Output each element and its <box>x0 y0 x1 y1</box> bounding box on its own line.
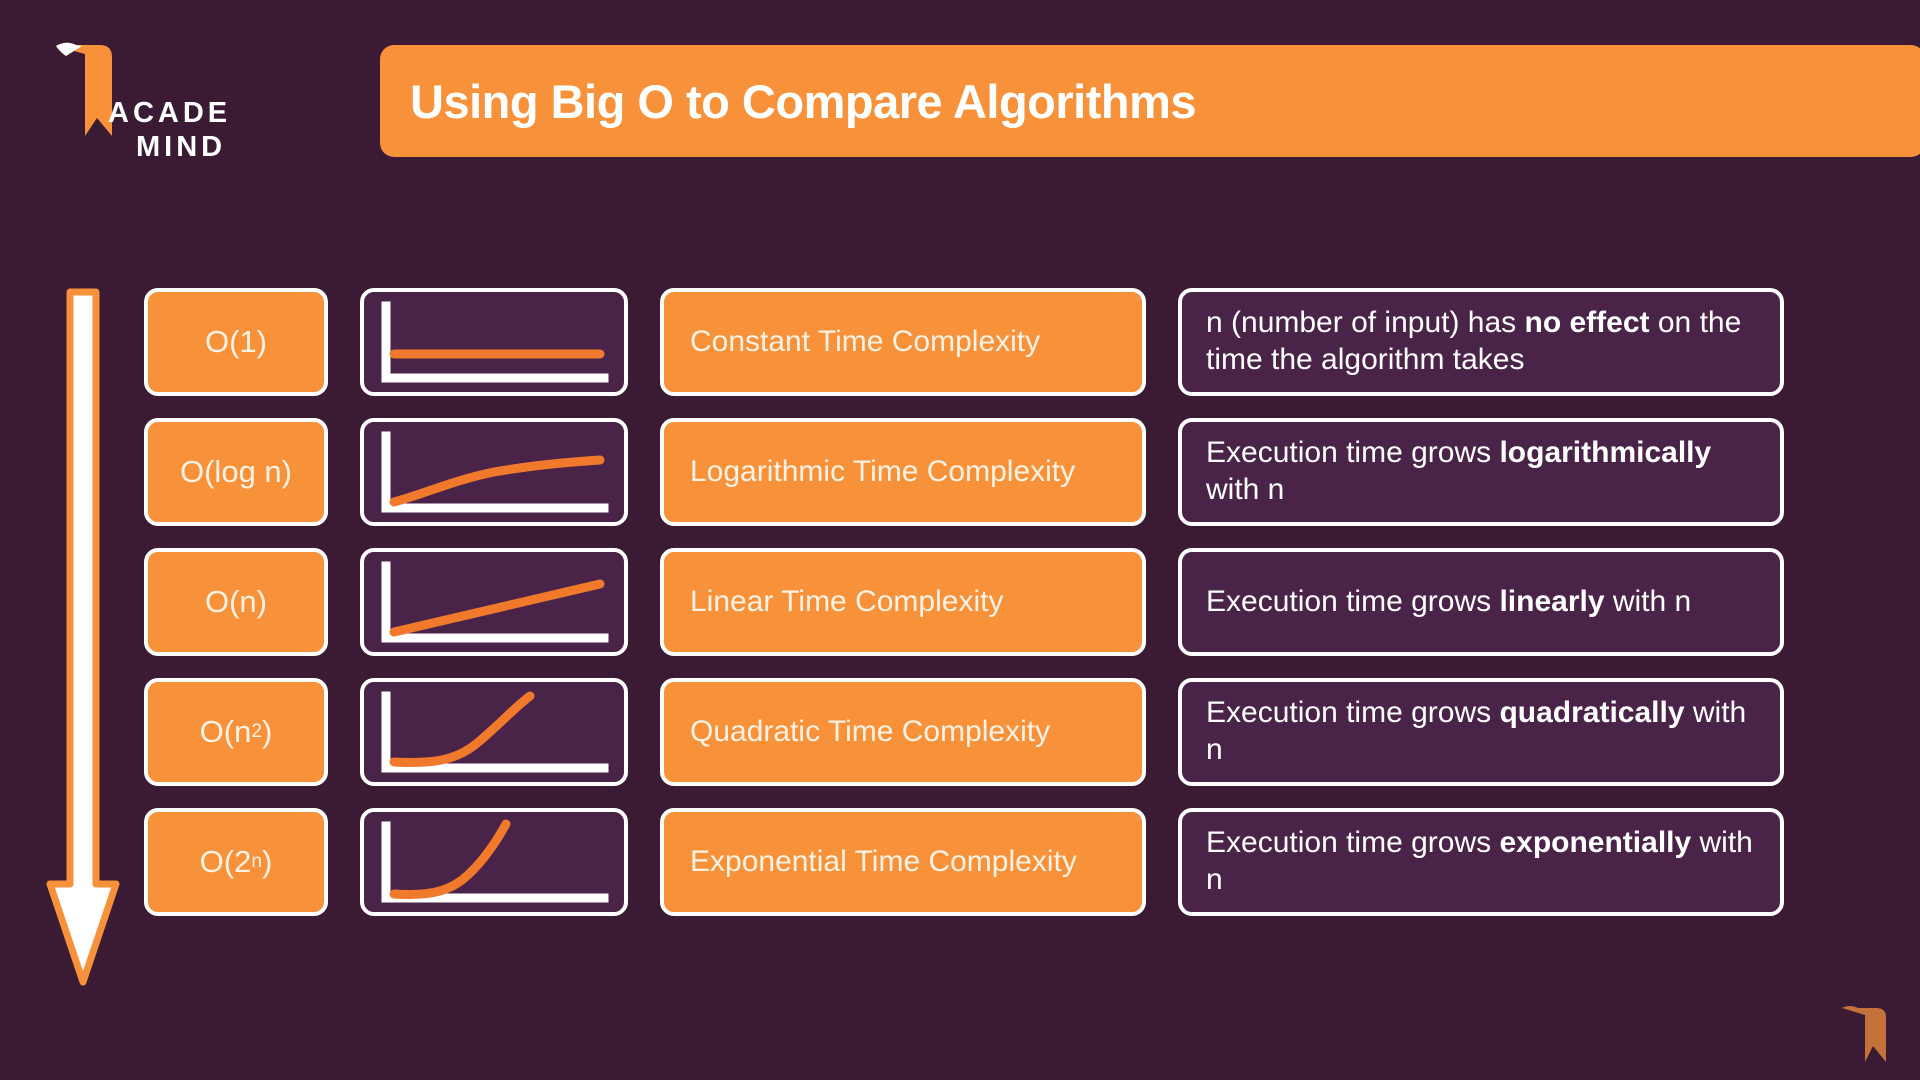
complexity-label-text: Constant Time Complexity <box>690 324 1040 361</box>
complexity-label-card[interactable]: Linear Time Complexity <box>660 548 1146 656</box>
notation-base: O(1) <box>205 324 267 360</box>
complexity-description-card: n (number of input) has no effect on the… <box>1178 288 1784 396</box>
complexity-chart-card <box>360 808 628 916</box>
description-fragment: with n <box>1206 473 1284 506</box>
chart-curve <box>394 696 530 762</box>
complexity-description-text: Execution time grows logarithmically wit… <box>1206 435 1756 508</box>
big-o-notation-badge[interactable]: O(1) <box>144 288 328 396</box>
complexity-grid: O(1)Constant Time Complexityn (number of… <box>144 288 1784 916</box>
chart-curve <box>394 824 506 894</box>
complexity-label-text: Linear Time Complexity <box>690 584 1003 621</box>
description-fragment: Execution time grows <box>1206 436 1499 469</box>
notation-base: O(n <box>200 714 252 750</box>
chart-curve <box>394 584 600 632</box>
big-o-notation-badge[interactable]: O(2n) <box>144 808 328 916</box>
description-fragment: n (number of input) has <box>1206 306 1525 339</box>
page-title: Using Big O to Compare Algorithms <box>410 74 1196 129</box>
complexity-row: O(1)Constant Time Complexityn (number of… <box>144 288 1784 396</box>
big-o-notation-badge[interactable]: O(log n) <box>144 418 328 526</box>
description-fragment: with n <box>1605 585 1692 618</box>
description-fragment: Execution time grows <box>1206 696 1499 729</box>
description-fragment: Execution time grows <box>1206 585 1499 618</box>
slide-title-bar: Using Big O to Compare Algorithms <box>380 45 1920 157</box>
description-emphasis: quadratically <box>1499 696 1684 729</box>
notation-tail: ) <box>262 844 272 880</box>
complexity-label-card[interactable]: Logarithmic Time Complexity <box>660 418 1146 526</box>
exponential-curve-icon <box>364 812 624 912</box>
description-emphasis: exponentially <box>1499 826 1691 859</box>
academind-bookmark-corner-icon <box>1842 1004 1886 1062</box>
complexity-description-card: Execution time grows exponentially with … <box>1178 808 1784 916</box>
complexity-label-text: Exponential Time Complexity <box>690 844 1077 881</box>
complexity-description-text: Execution time grows linearly with n <box>1206 584 1691 621</box>
complexity-chart-card <box>360 678 628 786</box>
notation-base: O(2 <box>200 844 252 880</box>
complexity-description-text: n (number of input) has no effect on the… <box>1206 305 1756 378</box>
constant-curve-icon <box>364 292 624 392</box>
academind-logo: ACADE MIND <box>48 40 278 160</box>
description-emphasis: logarithmically <box>1499 436 1711 469</box>
complexity-row: O(2n)Exponential Time ComplexityExecutio… <box>144 808 1784 916</box>
complexity-chart-card <box>360 418 628 526</box>
complexity-chart-card <box>360 548 628 656</box>
big-o-notation-badge[interactable]: O(n) <box>144 548 328 656</box>
chart-curve <box>394 460 600 502</box>
notation-tail: ) <box>262 714 272 750</box>
notation-base: O(log n) <box>180 454 292 490</box>
academind-bookmark-icon <box>56 40 112 136</box>
complexity-label-card[interactable]: Constant Time Complexity <box>660 288 1146 396</box>
chart-axes <box>386 306 604 378</box>
description-emphasis: no effect <box>1525 306 1650 339</box>
complexity-row: O(log n)Logarithmic Time ComplexityExecu… <box>144 418 1784 526</box>
complexity-description-card: Execution time grows linearly with n <box>1178 548 1784 656</box>
complexity-description-text: Execution time grows quadratically with … <box>1206 695 1756 768</box>
complexity-label-text: Quadratic Time Complexity <box>690 714 1050 751</box>
description-fragment: Execution time grows <box>1206 826 1499 859</box>
arrow-down-icon <box>46 288 120 988</box>
logo-line-acade: ACADE <box>108 96 231 130</box>
linear-curve-icon <box>364 552 624 652</box>
complexity-description-text: Execution time grows exponentially with … <box>1206 825 1756 898</box>
complexity-row: O(n2)Quadratic Time ComplexityExecution … <box>144 678 1784 786</box>
quadratic-curve-icon <box>364 682 624 782</box>
complexity-description-card: Execution time grows quadratically with … <box>1178 678 1784 786</box>
complexity-row: O(n)Linear Time ComplexityExecution time… <box>144 548 1784 656</box>
logarithmic-curve-icon <box>364 422 624 522</box>
complexity-chart-card <box>360 288 628 396</box>
complexity-description-card: Execution time grows logarithmically wit… <box>1178 418 1784 526</box>
description-emphasis: linearly <box>1499 585 1604 618</box>
big-o-notation-badge[interactable]: O(n2) <box>144 678 328 786</box>
complexity-label-text: Logarithmic Time Complexity <box>690 454 1075 491</box>
logo-line-mind: MIND <box>136 130 231 164</box>
slide-root: ACADE MIND Using Big O to Compare Algori… <box>0 0 1920 1080</box>
notation-base: O(n) <box>205 584 267 620</box>
complexity-label-card[interactable]: Exponential Time Complexity <box>660 808 1146 916</box>
academind-wordmark: ACADE MIND <box>108 96 231 164</box>
complexity-label-card[interactable]: Quadratic Time Complexity <box>660 678 1146 786</box>
